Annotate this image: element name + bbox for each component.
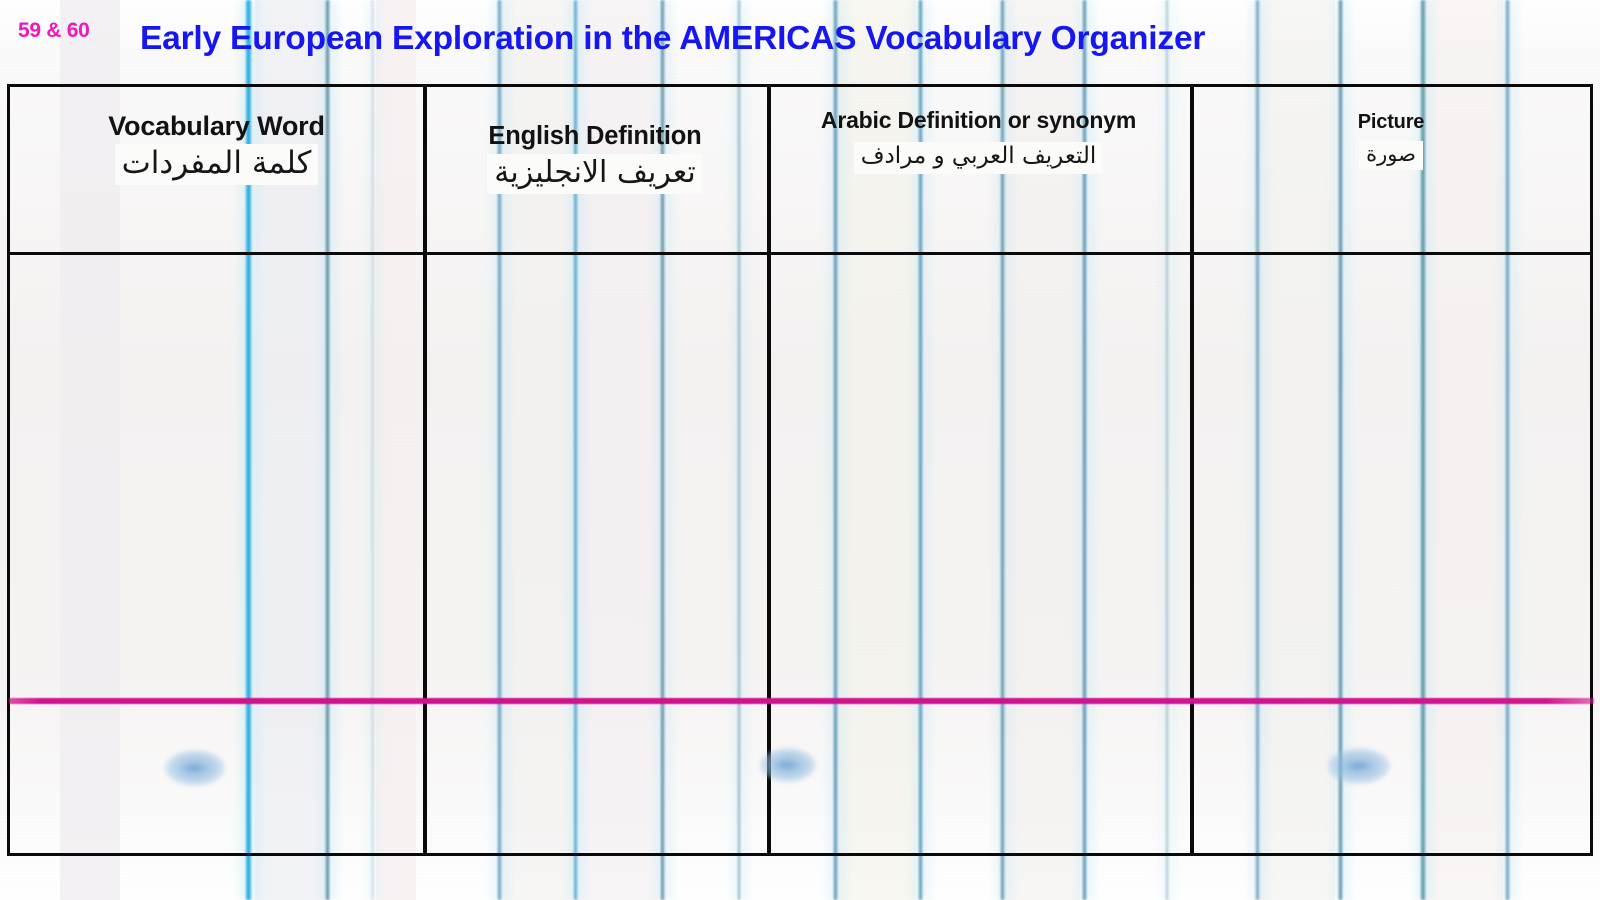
cell-english-definition[interactable] xyxy=(423,255,767,855)
column-header-ar: تعريف الانجليزية xyxy=(487,154,702,194)
magenta-ink-line xyxy=(9,698,1594,704)
column-header-ar: التعريف العربي و مرادف xyxy=(854,142,1104,174)
column-header-en: Vocabulary Word xyxy=(108,111,325,143)
cell-arabic-definition[interactable] xyxy=(767,255,1190,855)
ink-smudge-core-1 xyxy=(772,759,801,771)
column-divider-1-body xyxy=(423,255,427,855)
vocabulary-organizer-table: Vocabulary Word كلمة المفردات English De… xyxy=(7,84,1593,856)
column-header-picture: Picture صورة xyxy=(1190,87,1592,255)
ink-smudge-0 xyxy=(165,750,225,786)
table-header-row: Vocabulary Word كلمة المفردات English De… xyxy=(10,87,1590,255)
scanned-page: 59 & 60 Early European Exploration in th… xyxy=(0,0,1600,900)
column-divider-3-body xyxy=(1190,255,1194,855)
column-divider-2 xyxy=(767,87,771,252)
ink-smudge-core-2 xyxy=(1342,760,1374,772)
column-header-vocabulary-word: Vocabulary Word كلمة المفردات xyxy=(10,87,423,255)
ink-smudge-1 xyxy=(760,748,816,782)
ink-smudge-2 xyxy=(1328,748,1390,784)
ink-smudge-core-0 xyxy=(178,762,209,774)
column-header-ar: صورة xyxy=(1359,141,1423,170)
column-divider-1 xyxy=(423,87,427,252)
cell-picture[interactable] xyxy=(1190,255,1592,855)
column-header-ar: كلمة المفردات xyxy=(115,144,319,185)
column-divider-3 xyxy=(1190,87,1194,252)
column-header-arabic-definition: Arabic Definition or synonym التعريف الع… xyxy=(767,87,1190,255)
column-header-english-definition: English Definition تعريف الانجليزية xyxy=(423,87,767,255)
page-number-label: 59 & 60 xyxy=(18,20,96,43)
column-header-en: Arabic Definition or synonym xyxy=(821,107,1136,134)
column-header-en: Picture xyxy=(1358,111,1424,135)
column-header-en: English Definition xyxy=(488,121,701,151)
page-title: Early European Exploration in the AMERIC… xyxy=(140,20,1600,58)
